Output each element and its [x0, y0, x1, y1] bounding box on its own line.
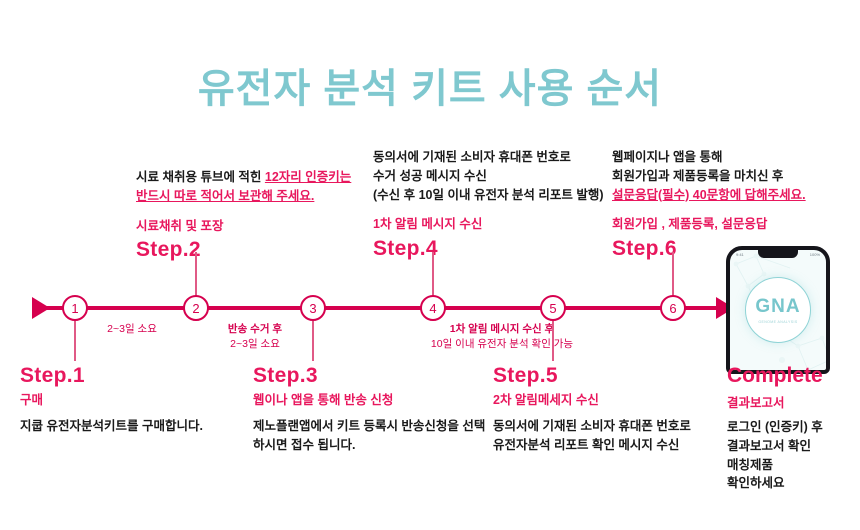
step-3-desc-line2: 하시면 접수 됩니다. [253, 436, 485, 455]
step-4-note-line1: 동의서에 기재된 소비자 휴대폰 번호로 [373, 148, 604, 167]
step-5-desc-line1: 동의서에 기재된 소비자 휴대폰 번호로 [493, 417, 691, 436]
step-2-note-line1-emphasis: 12자리 인증키는 [265, 170, 351, 184]
step-6-note-line1: 웹페이지나 앱을 통해 [612, 148, 806, 167]
step-2-sub: 시료채취 및 포장 [136, 218, 351, 235]
timeline-node-2[interactable]: 2 [183, 295, 209, 321]
complete-desc-line4: 확인하세요 [727, 474, 823, 493]
complete-head: Complete [727, 364, 823, 387]
complete-desc-line1: 로그인 (인증키) 후 [727, 418, 823, 437]
complete-desc: 로그인 (인증키) 후 결과보고서 확인 매칭제품 확인하세요 [727, 418, 823, 493]
timeline-node-6[interactable]: 6 [660, 295, 686, 321]
interval-label-4-5-line1: 1차 알림 메시지 수신 후 [412, 322, 592, 337]
step-1-sub: 구매 [20, 392, 203, 409]
interval-label-2-3-line1: 반송 수거 후 [195, 322, 315, 337]
step-3-desc-line1: 제노플랜앱에서 키트 등록시 반송신청을 선택 [253, 417, 485, 436]
gna-logo-tagline: GENOME ANALYSIS [758, 320, 797, 324]
interval-label-1-2: 2~3일 소요 [72, 322, 192, 337]
connector-step-5 [552, 321, 554, 361]
connector-step-1 [74, 321, 76, 361]
step-1-desc-line1: 지쿱 유전자분석키트를 구매합니다. [20, 417, 203, 436]
connector-step-6 [672, 252, 674, 296]
step-4-head: Step.4 [373, 237, 604, 260]
complete-block: Complete 결과보고서 로그인 (인증키) 후 결과보고서 확인 매칭제품… [727, 364, 823, 493]
step-2-head: Step.2 [136, 238, 351, 261]
gna-logo-text: GNA [755, 296, 800, 318]
step-block-3: Step.3 웹이나 앱을 통해 반송 신청 제노플랜앱에서 키트 등록시 반송… [253, 364, 485, 456]
phone-mockup: 9:41 100% GNA GENOME ANALYSIS [726, 246, 830, 374]
step-2-note-line1: 시료 채취용 튜브에 적힌 12자리 인증키는 [136, 168, 351, 187]
step-3-desc: 제노플랜앱에서 키트 등록시 반송신청을 선택 하시면 접수 됩니다. [253, 417, 485, 456]
complete-desc-line3: 매칭제품 [727, 456, 823, 475]
timeline-node-3[interactable]: 3 [300, 295, 326, 321]
step-5-sub: 2차 알림메세지 수신 [493, 392, 691, 409]
interval-label-2-3: 반송 수거 후 2~3일 소요 [195, 322, 315, 352]
step-5-desc: 동의서에 기재된 소비자 휴대폰 번호로 유전자분석 리포트 확인 메시지 수신 [493, 417, 691, 456]
interval-label-2-3-line2: 2~3일 소요 [195, 337, 315, 352]
step-5-desc-line2: 유전자분석 리포트 확인 메시지 수신 [493, 436, 691, 455]
step-2-note-line1-plain: 시료 채취용 튜브에 적힌 [136, 170, 265, 184]
step-4-note-line3: (수신 후 10일 이내 유전자 분석 리포트 발행) [373, 186, 604, 205]
step-block-2: 시료 채취용 튜브에 적힌 12자리 인증키는 반드시 따로 적어서 보관해 주… [136, 168, 351, 261]
connector-step-4 [432, 252, 434, 296]
timeline-node-4[interactable]: 4 [420, 295, 446, 321]
step-3-sub: 웹이나 앱을 통해 반송 신청 [253, 392, 485, 409]
complete-sub: 결과보고서 [727, 392, 823, 411]
timeline-node-5[interactable]: 5 [540, 295, 566, 321]
page-title: 유전자 분석 키트 사용 순서 [0, 56, 860, 114]
timeline-node-1[interactable]: 1 [62, 295, 88, 321]
step-2-note: 시료 채취용 튜브에 적힌 12자리 인증키는 반드시 따로 적어서 보관해 주… [136, 168, 351, 206]
step-block-4: 동의서에 기재된 소비자 휴대폰 번호로 수거 성공 메시지 수신 (수신 후 … [373, 148, 604, 260]
gna-logo-icon: GNA GENOME ANALYSIS [745, 277, 811, 343]
step-block-5: Step.5 2차 알림메세지 수신 동의서에 기재된 소비자 휴대폰 번호로 … [493, 364, 691, 456]
connector-step-2 [195, 252, 197, 296]
step-1-head: Step.1 [20, 364, 203, 387]
phone-screen: GNA GENOME ANALYSIS [730, 250, 826, 370]
step-6-note-line3: 설문응답(필수) 40문항에 답해주세요. [612, 186, 806, 205]
step-3-head: Step.3 [253, 364, 485, 387]
connector-step-3 [312, 321, 314, 361]
step-4-note: 동의서에 기재된 소비자 휴대폰 번호로 수거 성공 메시지 수신 (수신 후 … [373, 148, 604, 204]
step-6-note-line2: 회원가입과 제품등록을 마치신 후 [612, 167, 806, 186]
interval-label-4-5-line2: 10일 이내 유전자 분석 확인 가능 [412, 337, 592, 352]
step-block-1: Step.1 구매 지쿱 유전자분석키트를 구매합니다. [20, 364, 203, 436]
interval-label-4-5: 1차 알림 메시지 수신 후 10일 이내 유전자 분석 확인 가능 [412, 322, 592, 352]
timeline-track [42, 306, 732, 310]
complete-desc-line2: 결과보고서 확인 [727, 437, 823, 456]
step-4-note-line2: 수거 성공 메시지 수신 [373, 167, 604, 186]
step-2-note-line2: 반드시 따로 적어서 보관해 주세요. [136, 187, 351, 206]
step-6-note: 웹페이지나 앱을 통해 회원가입과 제품등록을 마치신 후 설문응답(필수) 4… [612, 148, 806, 204]
step-4-sub: 1차 알림 메시지 수신 [373, 216, 604, 233]
step-6-sub: 회원가입 , 제품등록, 설문응답 [612, 216, 806, 233]
infographic-root: 유전자 분석 키트 사용 순서 1 2 3 4 5 6 2~3일 소요 반송 수… [0, 0, 860, 530]
step-1-desc: 지쿱 유전자분석키트를 구매합니다. [20, 417, 203, 436]
step-block-6: 웹페이지나 앱을 통해 회원가입과 제품등록을 마치신 후 설문응답(필수) 4… [612, 148, 806, 260]
step-5-head: Step.5 [493, 364, 691, 387]
interval-label-1-2-line1: 2~3일 소요 [72, 322, 192, 337]
